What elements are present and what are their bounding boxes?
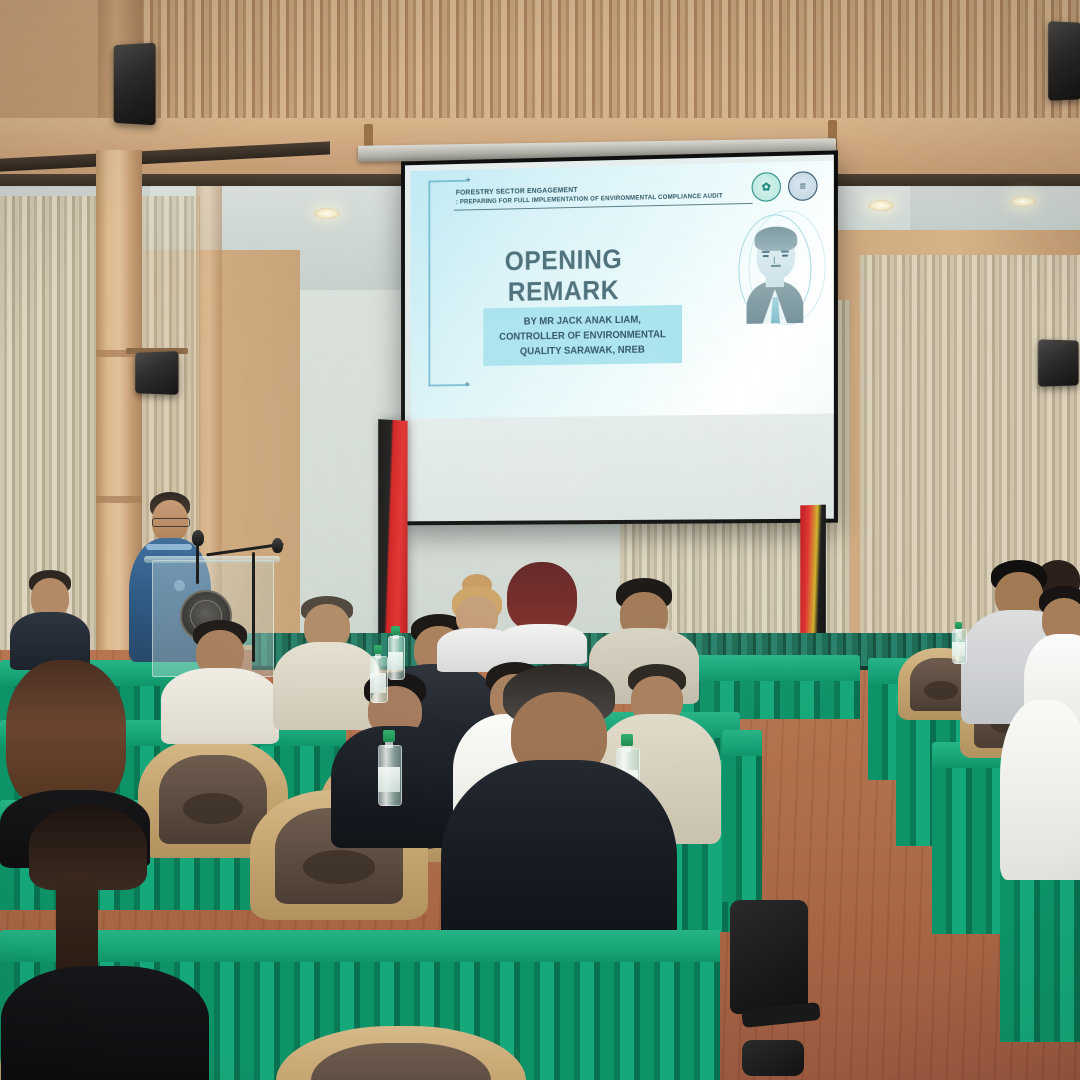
chair-foreground-a: [276, 1026, 526, 1080]
portrait-mouth: [771, 265, 781, 267]
projection-screen: + + FORESTRY SECTOR ENGAGEMENT : PREPARI…: [401, 150, 838, 525]
slide-logos: ✿ ≡: [752, 171, 818, 202]
speaker-eyeglasses: [152, 518, 190, 527]
attendee-row1-red-hair: [496, 562, 588, 658]
wall-speaker-mid-right: [1038, 339, 1078, 386]
slide-subtitle-line2: CONTROLLER OF ENVIRONMENTAL: [491, 327, 674, 345]
podium-top-rail: [144, 556, 280, 563]
photo-scene: + + FORESTRY SECTOR ENGAGEMENT : PREPARI…: [0, 0, 1080, 1080]
table-right-aisle: [722, 730, 762, 900]
nreb-logo: ✿: [752, 172, 781, 202]
slide-bracket-line: [428, 181, 430, 387]
speaker-collar: [146, 544, 192, 550]
malaysia-flag: [378, 419, 407, 639]
sarawak-flag-right: [800, 505, 826, 641]
wall-speaker-mid-left: [135, 351, 178, 395]
wall-speaker-upper-left: [114, 43, 156, 126]
water-bottle: [952, 622, 965, 664]
water-bottle: [378, 730, 400, 806]
ribbed-ceiling-panel: [0, 0, 1080, 118]
slide-subtitle: BY MR JACK ANAK LIAM, CONTROLLER OF ENVI…: [491, 312, 674, 360]
attendee-foreground-ponytail: [0, 806, 210, 1080]
ceiling-downlight: [314, 208, 340, 219]
ceiling-downlight: [1010, 196, 1036, 207]
microphone-head-b: [272, 538, 283, 553]
slide-portrait-illustration: [738, 214, 811, 324]
slide-bracket-bottom: [428, 384, 469, 387]
backpack: [730, 900, 808, 1014]
slide-header: FORESTRY SECTOR ENGAGEMENT : PREPARING F…: [456, 180, 785, 206]
microphone-head-a: [192, 530, 204, 546]
shoe: [742, 1040, 804, 1076]
microphone-stand-pole: [252, 552, 255, 662]
wall-speaker-upper-right: [1048, 21, 1080, 100]
portrait-nose: [774, 257, 778, 264]
attendee-right-front-white: [1000, 700, 1080, 880]
portrait-brow-left: [762, 251, 770, 253]
attendee-far-left-a: [10, 570, 90, 666]
slide-plus-marker: +: [466, 176, 471, 185]
water-bottle: [388, 626, 403, 680]
portrait-hair: [755, 226, 798, 251]
slide-bracket-top: [428, 180, 469, 183]
slide-content: + + FORESTRY SECTOR ENGAGEMENT : PREPARI…: [411, 161, 834, 419]
sarawak-logo: ≡: [788, 171, 817, 201]
slide-title: OPENING REMARK: [450, 243, 678, 309]
slide-plus-marker: +: [465, 380, 470, 389]
attendee-row1-b: [160, 620, 280, 740]
microphone-stem-a: [196, 540, 199, 584]
slide-subtitle-line3: QUALITY SARAWAK, NREB: [491, 342, 674, 360]
screen-lower-blank-area: [411, 413, 834, 521]
screen-surface: + + FORESTRY SECTOR ENGAGEMENT : PREPARI…: [405, 155, 834, 522]
portrait-brow-right: [781, 251, 789, 253]
ceiling-downlight: [868, 200, 894, 211]
slide-subtitle-band: BY MR JACK ANAK LIAM, CONTROLLER OF ENVI…: [483, 305, 682, 366]
water-bottle: [370, 645, 386, 703]
